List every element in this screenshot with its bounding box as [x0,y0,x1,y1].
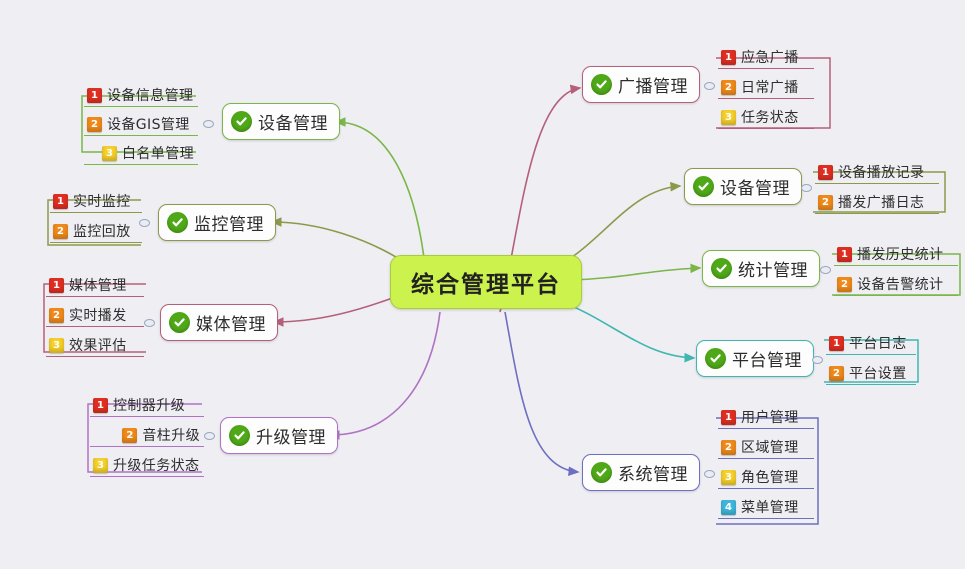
list-item-label: 设备GIS管理 [107,114,190,134]
list-item[interactable]: 3 白名单管理 [84,142,198,165]
list-item[interactable]: 1 设备播放记录 [815,161,939,184]
badge-1: 1 [837,247,852,262]
node-label: 系统管理 [618,460,688,485]
badge-2: 2 [49,308,64,323]
item-underline [826,354,916,355]
list-item[interactable]: 1 控制器升级 [90,394,204,417]
list-item[interactable]: 3 效果评估 [46,334,144,357]
list-item[interactable]: 1 用户管理 [718,406,814,429]
check-icon [591,74,612,95]
item-underline [718,458,814,459]
mindmap-canvas: 综合管理平台 设备管理 1 设备信息管理 2 设备GIS管理 3 白名单管理 监… [0,0,965,569]
connector-platform-mgmt [556,300,694,358]
item-underline [50,212,142,213]
item-underline [718,128,814,129]
list-item-label: 效果评估 [69,335,127,355]
check-icon [167,212,188,233]
node-label: 媒体管理 [196,310,266,335]
subgroup-media-mgmt: 1 媒体管理 2 实时播发 3 效果评估 [46,274,144,357]
list-item[interactable]: 2 平台设置 [826,362,916,385]
node-label: 设备管理 [720,174,790,199]
list-item-label: 平台设置 [849,363,907,383]
list-item-label: 实时监控 [73,191,131,211]
list-item-label: 设备播放记录 [838,162,924,182]
check-icon [705,348,726,369]
list-item[interactable]: 2 设备GIS管理 [84,113,198,136]
subgroup-device-mgmt-left: 1 设备信息管理 2 设备GIS管理 3 白名单管理 [84,84,198,165]
subgroup-monitor-mgmt: 1 实时监控 2 监控回放 [50,190,142,243]
list-item-label: 用户管理 [741,407,799,427]
item-underline [815,213,939,214]
collapse-dot-system-mgmt[interactable] [704,470,715,478]
item-underline [84,106,198,107]
item-underline [46,356,144,357]
badge-1: 1 [49,278,64,293]
subgroup-upgrade-mgmt: 1 控制器升级 2 音柱升级 3 升级任务状态 [90,394,204,477]
connector-media-mgmt [274,296,398,322]
collapse-dot-broadcast-mgmt[interactable] [704,82,715,90]
node-label: 广播管理 [618,72,688,97]
badge-1: 1 [721,50,736,65]
subgroup-device-mgmt-right: 1 设备播放记录 2 播发广播日志 [815,161,939,214]
item-underline [718,518,814,519]
node-label: 监控管理 [194,210,264,235]
connector-system-mgmt [505,312,578,472]
item-underline [90,416,204,417]
list-item[interactable]: 1 播发历史统计 [834,243,958,266]
badge-1: 1 [818,165,833,180]
list-item[interactable]: 2 区域管理 [718,436,814,459]
badge-3: 3 [721,470,736,485]
central-node-label: 综合管理平台 [411,265,561,299]
list-item-label: 角色管理 [741,467,799,487]
connector-stats-mgmt [572,268,700,280]
badge-3: 3 [93,458,108,473]
node-monitor-mgmt[interactable]: 监控管理 [158,204,276,241]
check-icon [229,425,250,446]
collapse-dot-device-mgmt-left[interactable] [203,120,214,128]
badge-2: 2 [837,277,852,292]
item-underline [826,384,916,385]
list-item[interactable]: 2 监控回放 [50,220,142,243]
node-media-mgmt[interactable]: 媒体管理 [160,304,278,341]
list-item-label: 区域管理 [741,437,799,457]
list-item[interactable]: 3 任务状态 [718,106,814,129]
item-underline [718,68,814,69]
badge-1: 1 [829,336,844,351]
check-icon [693,176,714,197]
node-device-mgmt-left[interactable]: 设备管理 [222,103,340,140]
item-underline [46,296,144,297]
check-icon [711,258,732,279]
badge-2: 2 [122,428,137,443]
node-system-mgmt[interactable]: 系统管理 [582,454,700,491]
list-item-label: 应急广播 [741,47,799,67]
badge-2: 2 [721,440,736,455]
item-underline [718,98,814,99]
item-underline [90,446,204,447]
check-icon [591,462,612,483]
item-underline [834,265,958,266]
list-item[interactable]: 1 应急广播 [718,46,814,69]
list-item[interactable]: 1 平台日志 [826,332,916,355]
list-item-label: 白名单管理 [122,143,194,163]
collapse-dot-stats-mgmt[interactable] [820,266,831,274]
list-item[interactable]: 2 设备告警统计 [834,273,958,296]
subgroup-system-mgmt: 1 用户管理 2 区域管理 3 角色管理 4 菜单管理 [718,406,814,519]
item-underline [90,476,204,477]
list-item-label: 任务状态 [741,107,799,127]
list-item-label: 实时播发 [69,305,127,325]
list-item-label: 平台日志 [849,333,907,353]
badge-1: 1 [53,194,68,209]
list-item-label: 控制器升级 [113,395,185,415]
list-item[interactable]: 2 日常广播 [718,76,814,99]
list-item[interactable]: 1 媒体管理 [46,274,144,297]
list-item-label: 媒体管理 [69,275,127,295]
badge-2: 2 [53,224,68,239]
node-label: 平台管理 [732,346,802,371]
item-underline [834,295,958,296]
collapse-dot-media-mgmt[interactable] [144,319,155,327]
subgroup-broadcast-mgmt: 1 应急广播 2 日常广播 3 任务状态 [718,46,814,129]
badge-3: 3 [49,338,64,353]
list-item[interactable]: 2 播发广播日志 [815,191,939,214]
list-item-label: 播发广播日志 [838,192,924,212]
item-underline [815,183,939,184]
node-platform-mgmt[interactable]: 平台管理 [696,340,814,377]
subgroup-platform-mgmt: 1 平台日志 2 平台设置 [826,332,916,385]
list-item-label: 设备信息管理 [107,85,193,105]
badge-2: 2 [721,80,736,95]
node-broadcast-mgmt[interactable]: 广播管理 [582,66,700,103]
collapse-dot-platform-mgmt[interactable] [812,356,823,364]
list-item-label: 日常广播 [741,77,799,97]
list-item[interactable]: 1 实时监控 [50,190,142,213]
item-underline [84,135,198,136]
list-item-label: 播发历史统计 [857,244,943,264]
item-underline [46,326,144,327]
node-label: 设备管理 [258,109,328,134]
list-item-label: 菜单管理 [741,497,799,517]
list-item[interactable]: 2 音柱升级 [90,424,204,447]
item-underline [84,164,198,165]
list-item[interactable]: 1 设备信息管理 [84,84,198,107]
badge-1: 1 [721,410,736,425]
connector-device-mgmt-left [336,122,424,258]
node-label: 升级管理 [256,423,326,448]
collapse-dot-upgrade-mgmt[interactable] [204,432,215,440]
list-item-label: 设备告警统计 [857,274,943,294]
check-icon [169,312,190,333]
central-node[interactable]: 综合管理平台 [390,255,582,309]
list-item-label: 音柱升级 [142,425,200,445]
badge-2: 2 [829,366,844,381]
list-item[interactable]: 4 菜单管理 [718,496,814,519]
node-stats-mgmt[interactable]: 统计管理 [702,250,820,287]
subgroup-stats-mgmt: 1 播发历史统计 2 设备告警统计 [834,243,958,296]
badge-1: 1 [87,88,102,103]
list-item-label: 升级任务状态 [113,455,199,475]
badge-3: 3 [102,146,117,161]
badge-3: 3 [721,110,736,125]
collapse-dot-device-mgmt-right[interactable] [801,184,812,192]
item-underline [50,242,142,243]
item-underline [718,428,814,429]
list-item[interactable]: 3 角色管理 [718,466,814,489]
connector-monitor-mgmt [272,222,404,262]
node-upgrade-mgmt[interactable]: 升级管理 [220,417,338,454]
list-item-label: 监控回放 [73,221,131,241]
connector-upgrade-mgmt [330,312,440,435]
node-device-mgmt-right[interactable]: 设备管理 [684,168,802,205]
node-label: 统计管理 [738,256,808,281]
list-item[interactable]: 3 升级任务状态 [90,454,204,477]
item-underline [718,488,814,489]
list-item[interactable]: 2 实时播发 [46,304,144,327]
badge-4: 4 [721,500,736,515]
badge-2: 2 [87,117,102,132]
badge-2: 2 [818,195,833,210]
check-icon [231,111,252,132]
badge-1: 1 [93,398,108,413]
